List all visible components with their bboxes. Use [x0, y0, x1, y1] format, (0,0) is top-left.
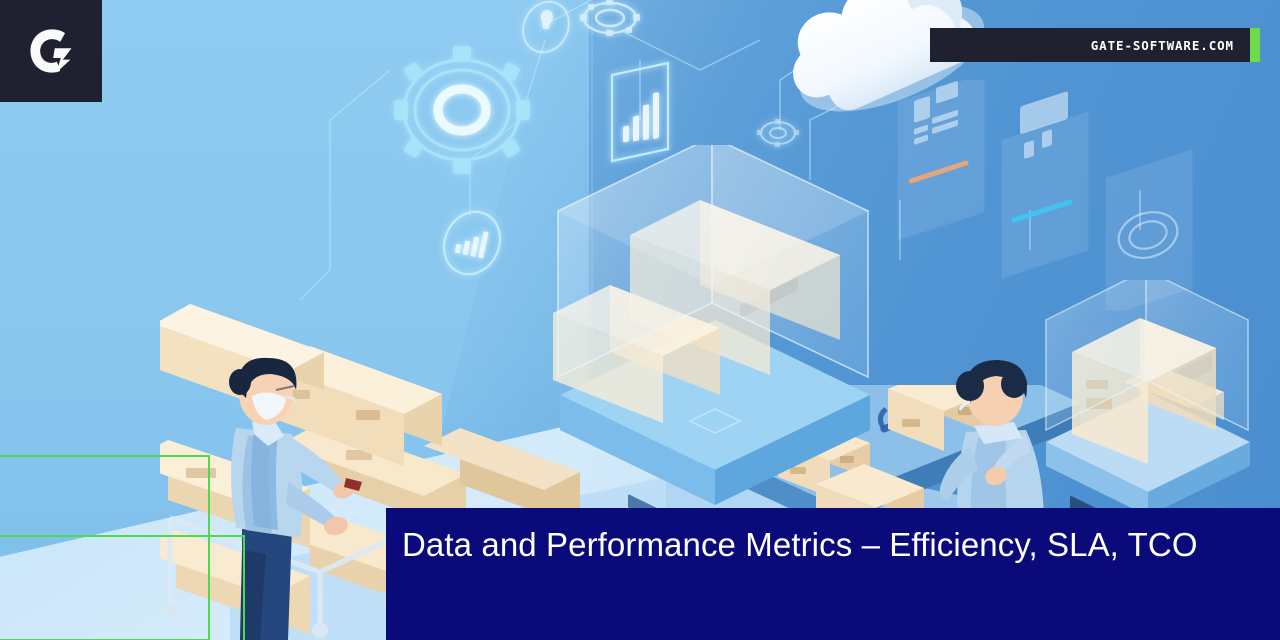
title-banner: Data and Performance Metrics – Efficienc… — [386, 508, 1280, 640]
gear-icon — [394, 46, 530, 174]
lightbulb-icon — [514, 0, 577, 60]
dashboard-panels — [880, 80, 1210, 310]
panel-inventory — [898, 80, 984, 240]
page-title: Data and Performance Metrics – Efficienc… — [402, 522, 1258, 568]
url-accent-bar — [1250, 28, 1260, 62]
brand-logo[interactable] — [0, 0, 102, 102]
warehouse-worker-left — [196, 350, 376, 640]
bar-chart-icon — [434, 203, 510, 284]
hero-banner: GATE-SOFTWARE.COM Data and Performance M… — [0, 0, 1280, 640]
site-url-text: GATE-SOFTWARE.COM — [1091, 38, 1234, 53]
site-url-badge[interactable]: GATE-SOFTWARE.COM — [930, 28, 1250, 62]
panel-billing — [1002, 91, 1088, 278]
gate-g-logo-icon — [24, 24, 78, 78]
